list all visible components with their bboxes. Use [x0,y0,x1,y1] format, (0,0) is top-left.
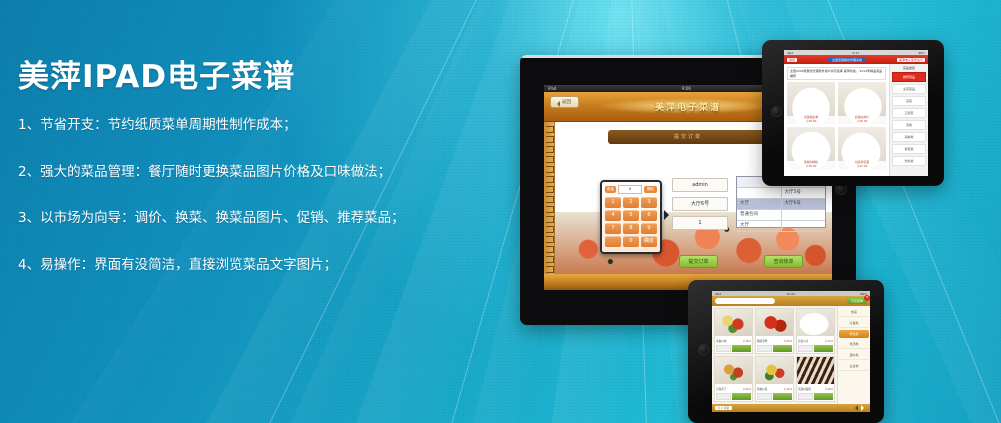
quantity-stepper[interactable] [757,393,772,400]
dish-price: ￥28.00 [806,119,817,123]
dish-actions [797,393,834,401]
add-to-cart-button[interactable] [814,393,833,400]
section-subtitle: 提交订单 [608,130,768,144]
operator-field[interactable]: admin [672,178,728,192]
promo-copy: 美萍IPAD电子菜谱 1、节省开支：节约纸质菜单周期性制作成本； 2、强大的菜品… [18,62,488,305]
add-to-cart-button[interactable] [732,345,751,352]
dish-price: ￥28.0 [825,387,833,391]
page-title: 美萍IPAD电子菜谱 [18,62,488,93]
dish-meta: 黑森林蛋糕 ￥28.0 [797,384,834,393]
dish-actions [715,393,752,401]
keypad-key[interactable]: 2 [623,197,639,208]
dish-actions [797,345,834,353]
promo-note: 全国2000家餐饮管理软件用户共同选择 美萍科技。 2013年精品菜品推荐 [787,67,886,80]
tablet-screen-bottom-right: iPad 10:02 86% 已点菜单 3 青椒炒肉 ￥18.0 [712,291,870,412]
people-field[interactable]: 1 [672,216,728,230]
dish-caption: 香辣鱿鱼卷 ￥28.00 [787,116,835,124]
search-input[interactable] [715,298,775,304]
backspace-icon[interactable]: 删除 [644,186,657,193]
keypad-key[interactable]: 3 [641,197,657,208]
table-row[interactable]: 普通包间 [737,210,825,221]
category-sidebar: 菜品类别 推荐菜品 主营菜品 凉菜 江浙菜 汤类 海鲜类 素菜类 饮料类 [889,64,928,176]
submit-order-button[interactable]: 提交订单 [679,255,717,268]
keypad-key[interactable]: 8 [623,223,639,234]
dish-grid: 香辣鱿鱼卷 ￥28.00 彩椒炒肉片 ￥26.00 [787,82,886,169]
dish-meta: 奶香小点 ￥15.0 [797,336,834,345]
sidebar-item[interactable]: 主营菜品 [892,84,926,94]
dish-price: ￥26.00 [857,119,868,123]
dish-name: 糖醋里脊 [757,339,767,343]
list-item: 2、强大的菜品管理：餐厅随时更换菜品图片价格及口味做法； [18,166,488,180]
sidebar-item[interactable]: 凉菜 [892,96,926,106]
dish-photo [756,309,793,336]
tablet-device-bottom-right: iPad 10:02 86% 已点菜单 3 青椒炒肉 ￥18.0 [688,280,884,423]
query-bill-button[interactable]: 查询账单 [764,255,802,268]
dish-name: 奶香小点 [798,339,808,343]
arrow-right-icon [664,210,674,220]
sidebar-item-active[interactable]: 特色菜 [839,330,869,338]
status-carrier: iPad [548,86,556,91]
demo-badge: 美萍电子菜谱演示 [897,58,925,62]
dish-price: ￥16.0 [784,387,792,391]
dish-name: 青椒炒肉 [716,339,726,343]
dish-meta: 宫保鸡丁 ￥22.0 [715,384,752,393]
status-time: 10:02 [786,292,795,296]
keypad-display: 数量 6 删除 [605,185,657,194]
row-area: 普通包间 [737,210,782,220]
tablet-screen-top-right: iPad 9:41 98% 返回 全国连锁餐饮管理系统 美萍电子菜谱演示 全国2… [784,50,928,176]
sidebar-item[interactable]: 煲汤类 [839,340,869,349]
dish-name: 辣椒炒蛋 [757,387,767,391]
sidebar-item[interactable]: 热菜 [839,308,869,317]
quantity-stepper[interactable] [757,345,772,352]
greek-key-border [544,122,555,274]
status-carrier: iPad [787,51,793,55]
dish-photo [715,357,752,384]
sidebar-item[interactable]: 酒水类 [839,351,869,360]
row-table: 大厅5号 [782,188,826,198]
add-to-cart-button[interactable] [773,345,792,352]
app-header-bar: 返回 全国连锁餐饮管理系统 美萍电子菜谱演示 [784,55,928,64]
system-title: 全国连锁餐饮管理系统 [828,58,866,62]
dish-card[interactable]: 黑森林蛋糕 ￥28.0 [796,356,835,402]
list-item: 1、节省开支：节约纸质菜单周期性制作成本； [18,119,488,133]
dish-card[interactable]: 时蔬拌意面 ￥22.00 [838,127,886,169]
keypad-key[interactable]: . [605,236,621,247]
dish-caption: 彩椒炒肉片 ￥26.00 [838,116,886,124]
keypad-keys[interactable]: 1 2 3 4 5 6 7 8 9 . 0 确定 [605,197,657,247]
feature-list: 1、节省开支：节约纸质菜单周期性制作成本； 2、强大的菜品管理：餐厅随时更换菜品… [18,119,488,272]
sidebar-item[interactable]: 冷盘类 [839,319,869,328]
back-button[interactable]: 返回 [787,58,797,62]
list-item: 3、以市场为向导：调价、换菜、换菜品图片、促销、推荐菜品； [18,212,488,226]
sidebar-item[interactable]: 饮料类 [892,156,926,166]
dish-card[interactable]: 香辣鱿鱼卷 ￥28.00 [787,82,835,124]
row-area [737,188,782,198]
dish-card[interactable]: 黑椒牛柳粒 ￥38.00 [787,127,835,169]
status-time: 9:06 [682,86,691,91]
keypad-value[interactable]: 6 [618,185,642,194]
dish-card[interactable]: 青椒炒肉 ￥18.0 [714,308,753,354]
sidebar-item[interactable]: 主食类 [839,362,869,371]
keypad-key[interactable]: 5 [623,210,639,221]
keypad-key[interactable]: 1 [605,197,621,208]
dish-photo [715,309,752,336]
dish-price: ￥18.0 [743,339,751,343]
dish-grid-panel: 全国2000家餐饮管理软件用户共同选择 美萍科技。 2013年精品菜品推荐 香辣… [784,64,889,176]
quantity-stepper[interactable] [798,393,813,400]
add-to-cart-button[interactable] [814,345,833,352]
pagination [852,405,867,411]
dish-caption: 黑椒牛柳粒 ￥38.00 [787,161,835,169]
app-footer-bar: 共 6 道菜 [712,404,870,412]
keypad-key[interactable]: 4 [605,210,621,221]
content-area: 青椒炒肉 ￥18.0 糖醋里脊 ￥26.0 [712,306,870,404]
dish-price: ￥15.0 [825,339,833,343]
tablet-device-top-right: iPad 9:41 98% 返回 全国连锁餐饮管理系统 美萍电子菜谱演示 全国2… [762,40,944,186]
table-field[interactable]: 大厅6号 [672,197,728,211]
home-button-icon[interactable] [698,344,709,355]
status-time: 9:41 [852,51,859,55]
dish-photo [797,309,834,336]
keypad-key[interactable]: 0 [623,236,639,247]
sidebar-item[interactable]: 江浙菜 [892,108,926,118]
dish-caption: 时蔬拌意面 ￥22.00 [838,161,886,169]
category-sidebar: 热菜 冷盘类 特色菜 煲汤类 酒水类 主食类 [837,306,870,404]
dish-photo [756,357,793,384]
quantity-stepper[interactable] [716,345,731,352]
order-fields: admin 大厅6号 1 [672,178,728,235]
promo-banner: 美萍IPAD电子菜谱 1、节省开支：节约纸质菜单周期性制作成本； 2、强大的菜品… [0,0,1001,423]
status-battery: 98% [918,51,925,55]
keypad-key[interactable]: 确定 [641,236,657,247]
quantity-stepper[interactable] [716,393,731,400]
dish-name: 宫保鸡丁 [716,387,726,391]
dish-meta: 糖醋里脊 ￥26.0 [756,336,793,345]
dish-card[interactable]: 奶香小点 ￥15.0 [796,308,835,354]
sidebar-item[interactable]: 素菜类 [892,144,926,154]
dish-meta: 辣椒炒蛋 ￥16.0 [756,384,793,393]
dish-actions [715,345,752,353]
keypad-key[interactable]: 9 [641,223,657,234]
row-table [782,210,826,220]
app-header-bar: 已点菜单 3 [712,296,870,306]
dish-price: ￥38.00 [806,164,817,168]
dish-card[interactable]: 糖醋里脊 ￥26.0 [755,308,794,354]
dish-name: 黑森林蛋糕 [798,387,811,391]
status-carrier: iPad [715,292,721,296]
table-row[interactable]: 大厅5号 [737,188,825,199]
dish-photo [797,357,834,384]
dish-card[interactable]: 宫保鸡丁 ￥22.0 [714,356,753,402]
row-area: 大厅 [737,221,782,231]
add-to-cart-button[interactable] [773,393,792,400]
next-page-icon[interactable] [861,405,867,411]
table-row[interactable]: 大厅 [737,221,825,232]
row-area: 大厅 [737,199,782,209]
cart-button[interactable]: 已点菜单 3 [847,298,867,304]
table-row[interactable]: 大厅 大厅6号 [737,199,825,210]
dish-grid: 青椒炒肉 ￥18.0 糖醋里脊 ￥26.0 [712,306,837,404]
dish-actions [756,345,793,353]
dish-price: ￥26.0 [784,339,792,343]
dish-actions [756,393,793,401]
dish-price: ￥22.0 [743,387,751,391]
dish-price: ￥22.00 [857,164,868,168]
keypad-key[interactable]: 6 [641,210,657,221]
list-item: 4、易操作：界面有没简洁，直接浏览菜品文字图片； [18,259,488,273]
dish-count-label: 共 6 道菜 [715,406,732,410]
row-table [782,221,826,231]
dish-meta: 青椒炒肉 ￥18.0 [715,336,752,345]
cart-badge: 3 [864,295,870,301]
sidebar-item-recommended[interactable]: 推荐菜品 [892,72,926,82]
quantity-stepper[interactable] [798,345,813,352]
add-to-cart-button[interactable] [732,393,751,400]
sidebar-title: 菜品类别 [892,66,926,70]
numeric-keypad[interactable]: 数量 6 删除 1 2 3 4 5 6 7 8 9 . [600,180,662,254]
order-actions: 提交订单 查询账单 [656,255,826,268]
keypad-key[interactable]: 7 [605,223,621,234]
cart-label: 已点菜单 [851,299,863,303]
home-button-icon[interactable] [771,106,782,117]
dish-card[interactable]: 辣椒炒蛋 ￥16.0 [755,356,794,402]
prev-page-icon[interactable] [852,405,858,411]
sidebar-item[interactable]: 汤类 [892,120,926,130]
content-area: 全国2000家餐饮管理软件用户共同选择 美萍科技。 2013年精品菜品推荐 香辣… [784,64,928,176]
row-table: 大厅6号 [782,199,826,209]
sidebar-item[interactable]: 海鲜类 [892,132,926,142]
keypad-label: 数量 [605,186,616,193]
dish-card[interactable]: 彩椒炒肉片 ￥26.00 [838,82,886,124]
